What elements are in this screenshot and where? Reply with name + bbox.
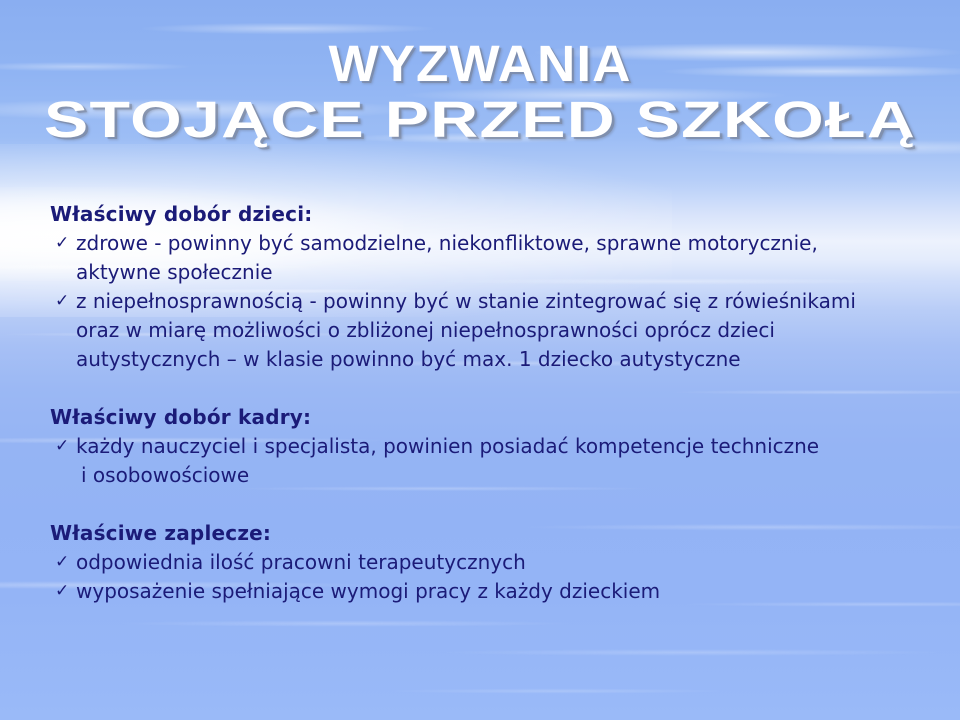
title-line-2: STOJĄCE PRZED SZKOŁĄ <box>0 94 960 146</box>
bullet-line: odpowiednia ilość pracowni terapeutyczny… <box>76 548 930 577</box>
bullet-line: zdrowe - powinny być samodzielne, niekon… <box>76 229 930 258</box>
slide-canvas: WYZWANIA STOJĄCE PRZED SZKOŁĄ Właściwy d… <box>0 0 960 720</box>
check-icon: ✓ <box>55 548 69 577</box>
check-icon: ✓ <box>55 577 69 606</box>
bullet-line: oraz w miarę możliwości o zbliżonej niep… <box>76 316 930 345</box>
section-zaplecze: Właściwe zaplecze: ✓ odpowiednia ilość p… <box>50 519 930 606</box>
check-icon: ✓ <box>55 432 69 461</box>
slide-body: Właściwy dobór dzieci: ✓ zdrowe - powinn… <box>50 200 930 606</box>
list-item: ✓ wyposażenie spełniające wymogi pracy z… <box>50 577 930 606</box>
bullet-line: aktywne społecznie <box>76 258 930 287</box>
bullet-list: ✓ odpowiednia ilość pracowni terapeutycz… <box>50 548 930 606</box>
slide-title: WYZWANIA STOJĄCE PRZED SZKOŁĄ <box>0 38 960 146</box>
list-item: ✓ z niepełnosprawnością - powinny być w … <box>50 287 930 374</box>
list-item: ✓ zdrowe - powinny być samodzielne, niek… <box>50 229 930 287</box>
bullet-line: i osobowościowe <box>76 461 930 490</box>
bullet-list: ✓ zdrowe - powinny być samodzielne, niek… <box>50 229 930 374</box>
bullet-line: z niepełnosprawnością - powinny być w st… <box>76 287 930 316</box>
bullet-line: każdy nauczyciel i specjalista, powinien… <box>76 432 930 461</box>
list-item: ✓ każdy nauczyciel i specjalista, powini… <box>50 432 930 490</box>
bullet-line: autystycznych – w klasie powinno być max… <box>76 345 930 374</box>
title-line-1: WYZWANIA <box>0 38 960 90</box>
section-heading: Właściwy dobór kadry: <box>50 403 930 432</box>
section-heading: Właściwe zaplecze: <box>50 519 930 548</box>
list-item: ✓ odpowiednia ilość pracowni terapeutycz… <box>50 548 930 577</box>
section-kadry: Właściwy dobór kadry: ✓ każdy nauczyciel… <box>50 403 930 490</box>
bullet-line: wyposażenie spełniające wymogi pracy z k… <box>76 577 930 606</box>
section-dzieci: Właściwy dobór dzieci: ✓ zdrowe - powinn… <box>50 200 930 374</box>
bullet-list: ✓ każdy nauczyciel i specjalista, powini… <box>50 432 930 490</box>
check-icon: ✓ <box>55 229 69 258</box>
section-heading: Właściwy dobór dzieci: <box>50 200 930 229</box>
check-icon: ✓ <box>55 287 69 316</box>
